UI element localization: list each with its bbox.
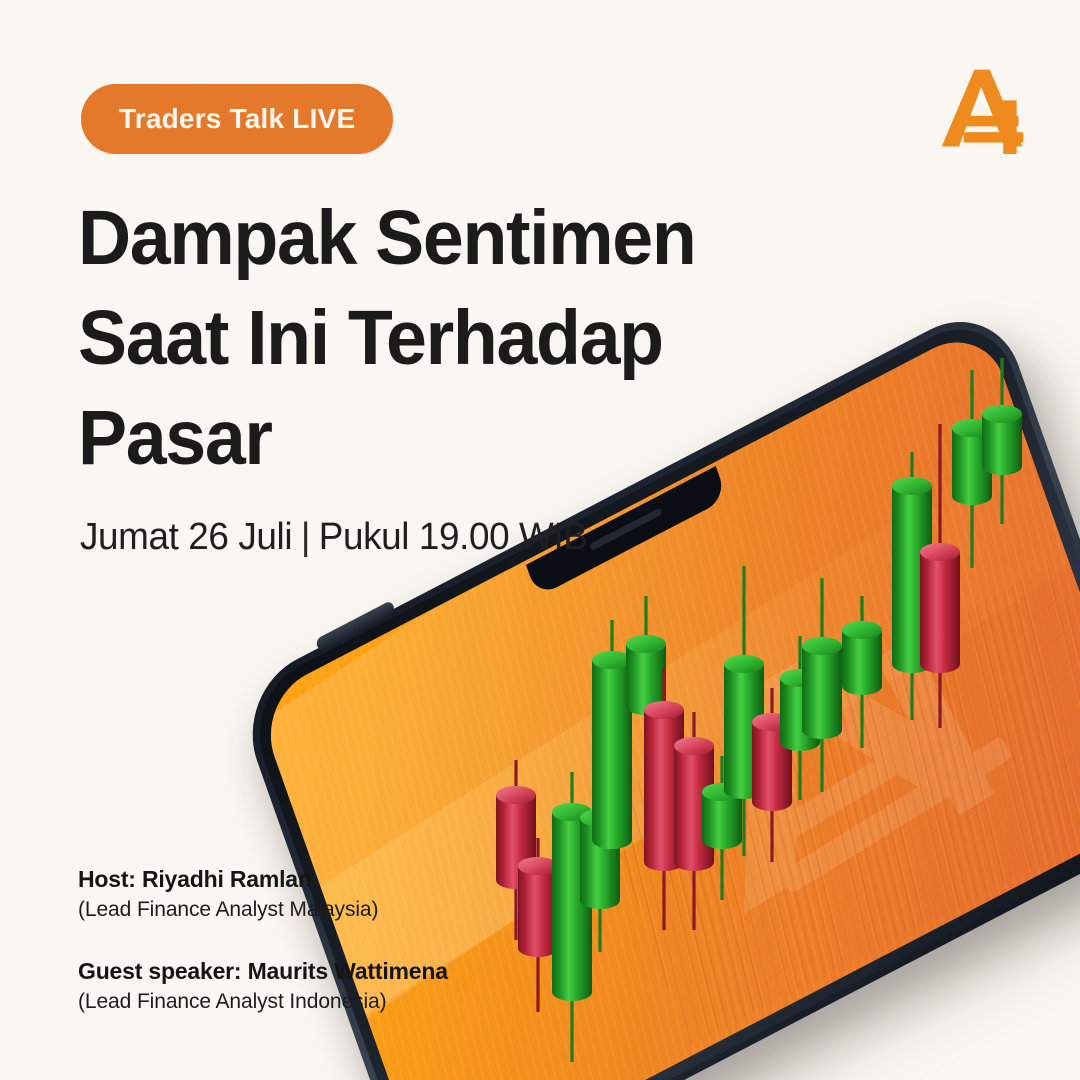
a-logo-icon [936, 62, 1032, 154]
guest-role: (Lead Finance Analyst Indonesia) [78, 990, 448, 1014]
page-title: Dampak Sentimen Saat Ini Terhadap Pasar [78, 188, 798, 488]
guest-name: Guest speaker: Maurits Wattimena [78, 958, 448, 985]
title-line-1: Dampak Sentimen [78, 188, 766, 288]
live-badge[interactable]: Traders Talk LIVE [81, 84, 393, 154]
host-role: (Lead Finance Analyst Malaysia) [78, 898, 448, 922]
title-line-2: Saat Ini Terhadap [78, 288, 766, 388]
datetime-separator: | [292, 516, 319, 558]
credits-spacer [78, 922, 448, 958]
speaker-credits: Host: Riyadhi Ramlan (Lead Finance Analy… [78, 866, 448, 1014]
brand-logo [936, 62, 1032, 154]
host-name: Host: Riyadhi Ramlan [78, 866, 448, 893]
event-time: Pukul 19.00 WIB [319, 516, 588, 558]
title-line-3: Pasar [78, 388, 766, 488]
event-date: Jumat 26 Juli [80, 516, 292, 558]
poster-canvas: Traders Talk LIVE Dampak Sentimen Saat I… [0, 0, 1080, 1080]
event-datetime: Jumat 26 Juli|Pukul 19.00 WIB [80, 516, 588, 559]
live-badge-label: Traders Talk LIVE [119, 103, 355, 135]
